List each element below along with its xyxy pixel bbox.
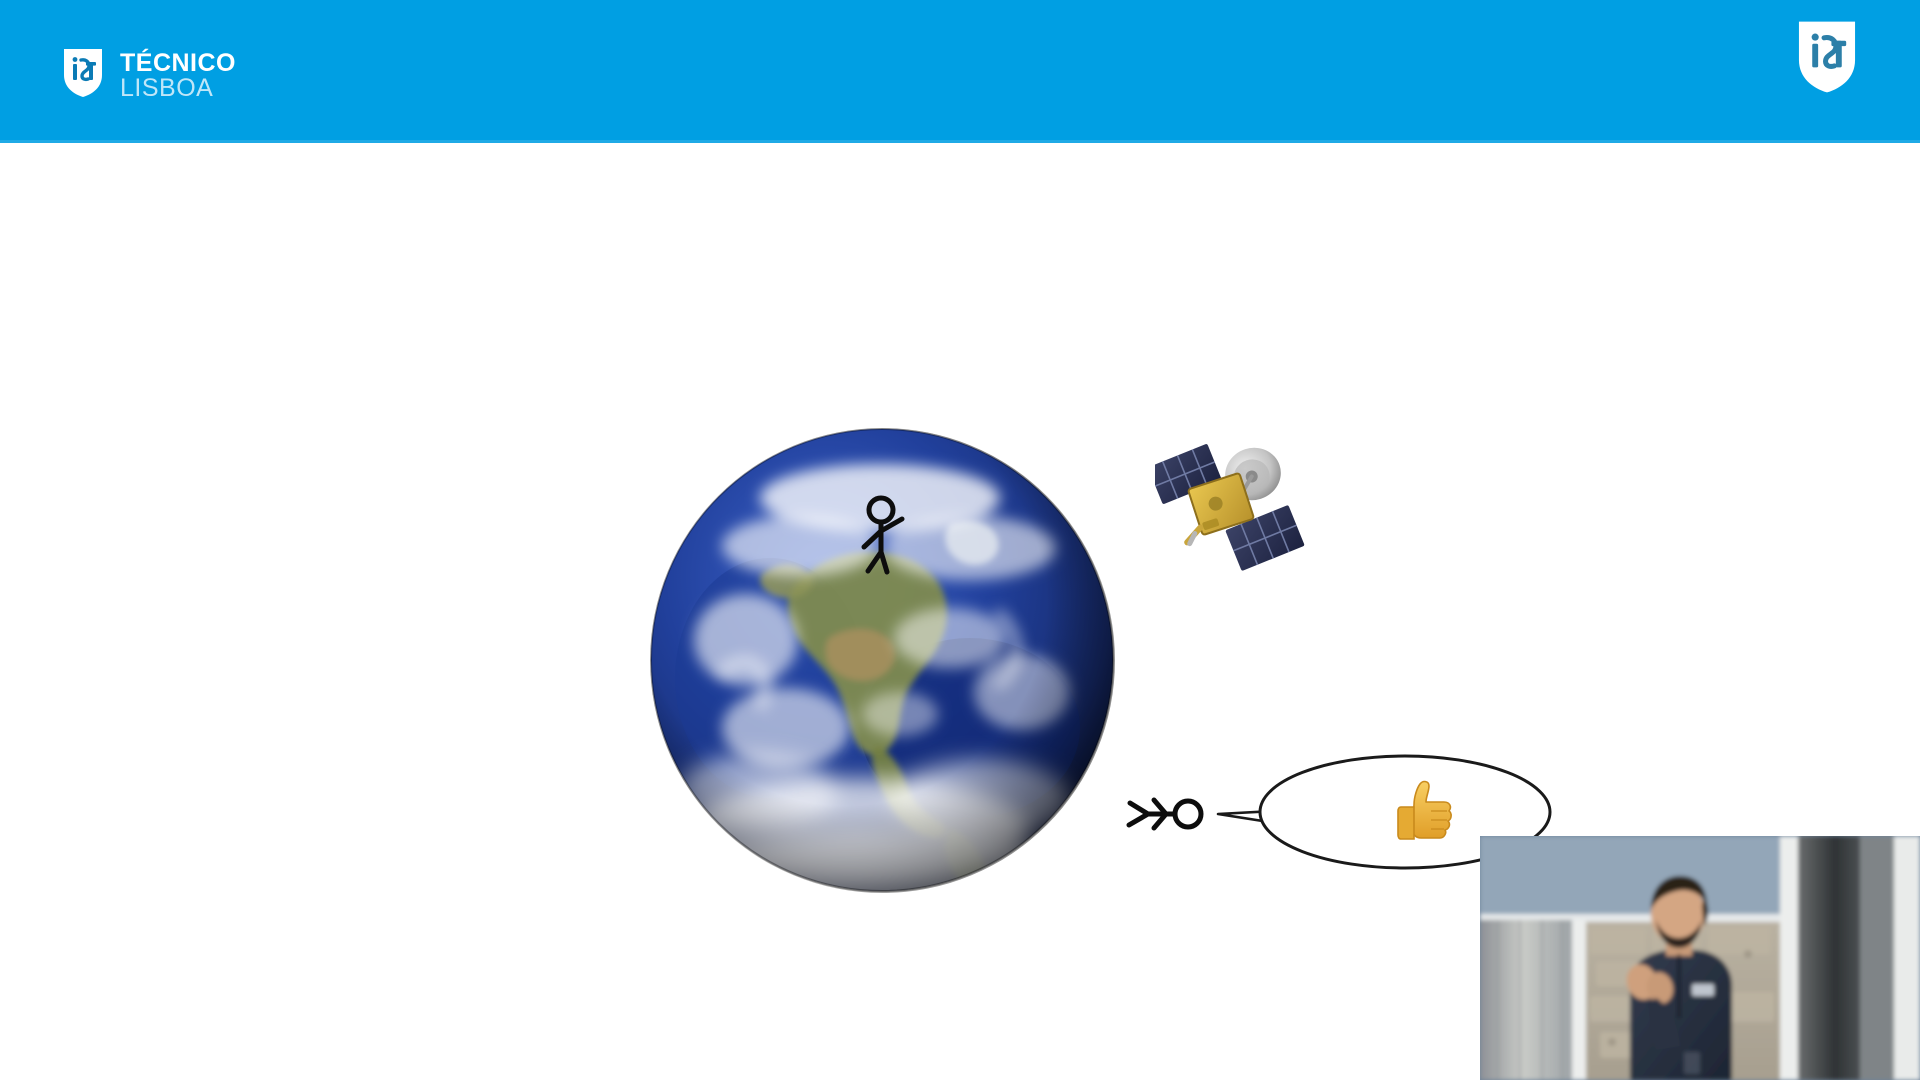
brand-lockup-left: TÉCNICO LISBOA bbox=[62, 47, 236, 104]
stick-figure-rotated-icon bbox=[1126, 781, 1206, 847]
speaker-video-overlay[interactable] bbox=[1480, 836, 1920, 1080]
brand-lockup-right bbox=[1796, 18, 1858, 101]
brand-wordmark-line1: TÉCNICO bbox=[120, 51, 236, 76]
satellite-icon bbox=[1155, 438, 1305, 578]
slide-stage: TÉCNICO LISBOA bbox=[0, 0, 1920, 1080]
header-bar: TÉCNICO LISBOA bbox=[0, 0, 1920, 143]
brand-wordmark-line2: LISBOA bbox=[120, 76, 236, 101]
brand-wordmark: TÉCNICO LISBOA bbox=[120, 51, 236, 100]
thumbs-up-icon bbox=[1395, 777, 1457, 845]
ist-shield-icon bbox=[1796, 18, 1858, 101]
ist-shield-icon bbox=[62, 47, 104, 104]
stick-figure-icon bbox=[855, 495, 925, 575]
